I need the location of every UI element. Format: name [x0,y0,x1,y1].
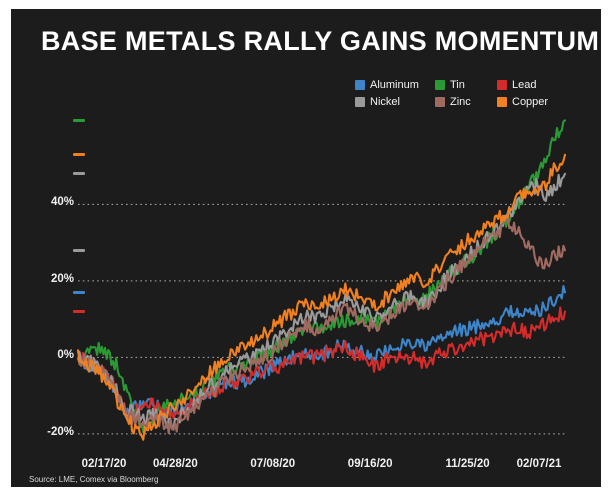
page-title: BASE METALS RALLY GAINS MOMENTUM [41,26,599,57]
x-axis-labels: 02/17/2004/28/2007/08/2009/16/2011/25/20… [78,458,578,476]
x-axis-tick-label: 04/28/20 [153,458,198,470]
legend-item-aluminum[interactable]: Aluminum [355,77,435,93]
y-axis-tick-label: 20% [51,273,74,285]
legend-item-lead[interactable]: Lead [497,77,577,93]
legend-swatch-icon [435,80,445,90]
legend-label: Lead [512,79,536,91]
series-line-copper [78,155,565,440]
x-axis-tick-label: 02/17/20 [82,458,127,470]
line-chart-svg [78,105,565,453]
x-axis-tick-label: 07/08/20 [250,458,295,470]
chart-panel: BASE METALS RALLY GAINS MOMENTUM Aluminu… [11,9,601,487]
y-axis-tick-label: -20% [47,426,74,438]
legend-item-tin[interactable]: Tin [435,77,497,93]
y-axis-labels: 40%20%0%-20% [29,105,74,453]
plot-area [78,105,565,453]
x-axis-tick-label: 11/25/20 [446,458,490,470]
legend-label: Tin [450,79,465,91]
series-line-tin [78,120,565,432]
legend-swatch-icon [355,80,365,90]
y-axis-tick-label: 40% [51,196,74,208]
series-lines [78,120,565,439]
series-line-nickel [78,174,565,428]
chart-page: BASE METALS RALLY GAINS MOMENTUM Aluminu… [0,0,612,500]
y-axis-tick-label: 0% [57,349,74,361]
x-axis-tick-label: 02/07/21 [517,458,562,470]
legend-swatch-icon [497,80,507,90]
source-note: Source: LME, Comex via Bloomberg [29,475,158,484]
legend-label: Aluminum [370,79,419,91]
x-axis-tick-label: 09/16/20 [348,458,393,470]
